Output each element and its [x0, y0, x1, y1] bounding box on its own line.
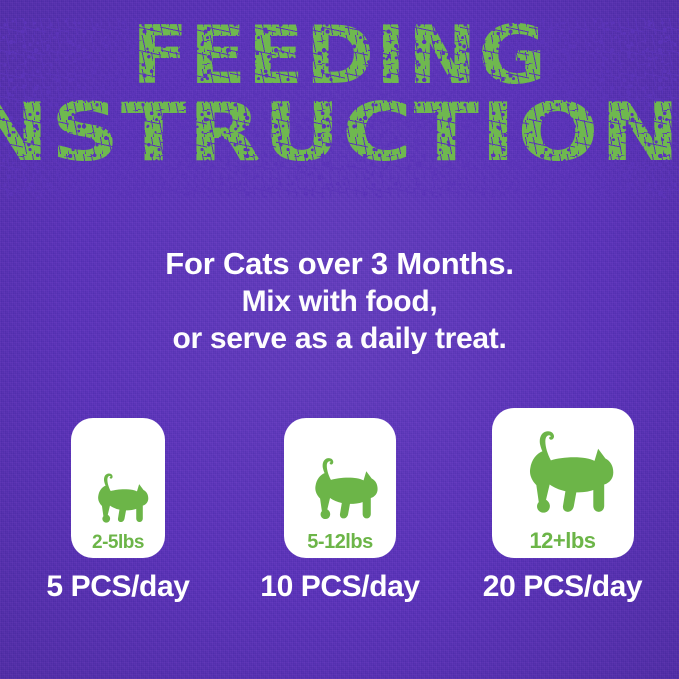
dosage-card-small: 2-5lbs 5 PCS/day: [18, 418, 218, 604]
dosage-card-large: 12+lbs 20 PCS/day: [455, 418, 670, 604]
weight-card: 2-5lbs: [71, 418, 165, 558]
dose-label: 20 PCS/day: [455, 570, 670, 604]
weight-card: 12+lbs: [492, 408, 634, 558]
dosage-cards-row: 2-5lbs 5 PCS/day 5-12lbs 10 PCS/day 12+l…: [0, 418, 679, 618]
dosage-card-medium: 5-12lbs 10 PCS/day: [240, 418, 440, 604]
subtitle-block: For Cats over 3 Months. Mix with food, o…: [0, 245, 679, 357]
dose-label: 5 PCS/day: [18, 570, 218, 604]
cat-icon: [502, 427, 624, 530]
subtitle-line-2: Mix with food,: [0, 283, 679, 320]
page-title: FEEDING INSTRUCTIONS: [0, 18, 679, 170]
weight-label: 12+lbs: [529, 530, 595, 552]
subtitle-line-1: For Cats over 3 Months.: [0, 245, 679, 283]
weight-label: 2-5lbs: [92, 533, 144, 552]
weight-card: 5-12lbs: [284, 418, 396, 558]
dose-label: 10 PCS/day: [240, 570, 440, 604]
cat-icon: [294, 455, 386, 532]
subtitle-line-3: or serve as a daily treat.: [0, 320, 679, 357]
cat-icon: [81, 471, 155, 533]
title-line-instructions: INSTRUCTIONS: [0, 95, 679, 170]
title-line-feeding: FEEDING: [0, 18, 679, 93]
weight-label: 5-12lbs: [307, 532, 372, 552]
feeding-instructions-poster: FEEDING INSTRUCTIONS For Cats over 3 Mon…: [0, 0, 679, 679]
